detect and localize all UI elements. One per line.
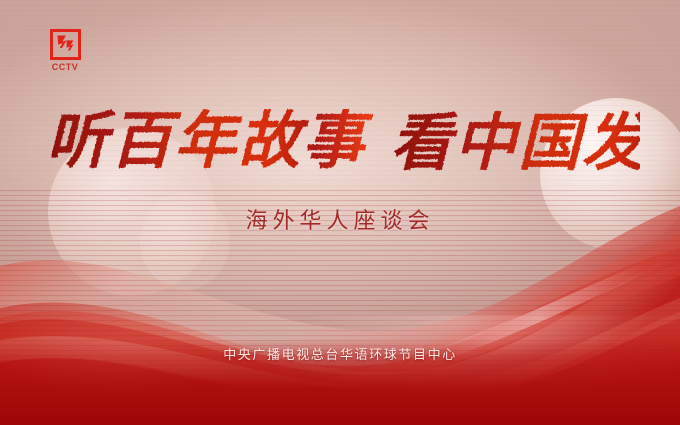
poster-canvas: CCTV 听百年故事 看中国发展 bbox=[0, 0, 680, 425]
cctv-logo-mark bbox=[50, 29, 81, 60]
cctv-logo[interactable]: CCTV bbox=[43, 29, 87, 72]
footer-organization: 中央广播电视总台华语环球节目中心 bbox=[0, 344, 680, 363]
cctv-logo-caption: CCTV bbox=[43, 63, 87, 72]
subtitle: 海外华人座谈会 bbox=[0, 203, 680, 235]
cctv-lightning-icon bbox=[55, 34, 76, 55]
